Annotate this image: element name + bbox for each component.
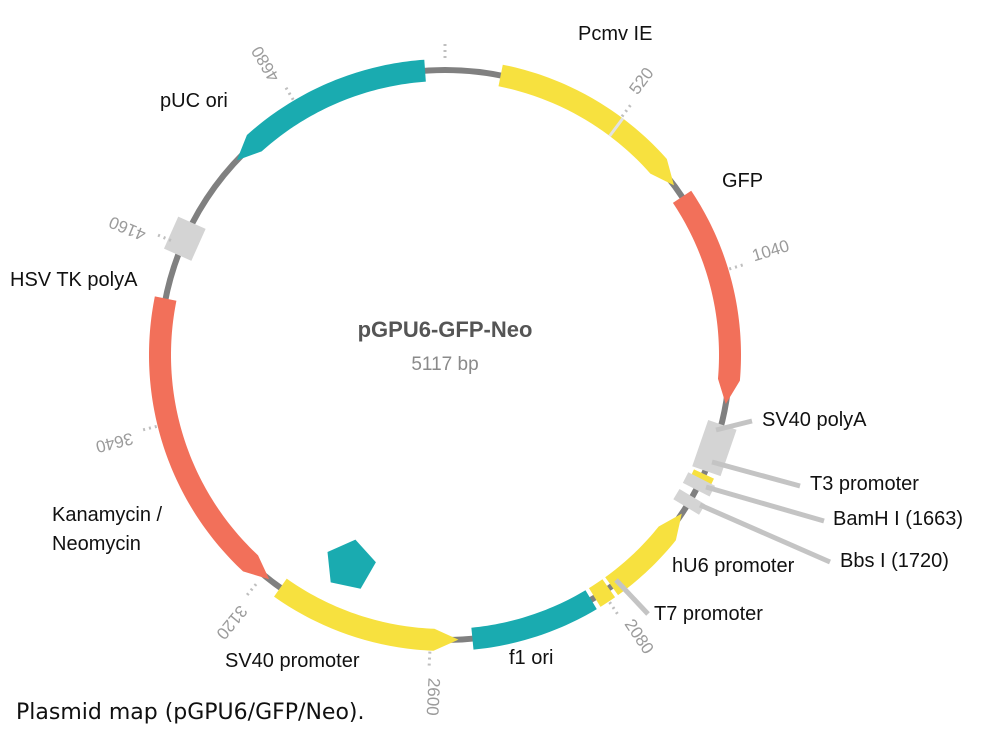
- tick-label: 2600: [423, 677, 444, 716]
- feature-gfp: [673, 191, 741, 404]
- plasmid-map-figure: 5201040208026003120364041604680 Pcmv IEG…: [0, 0, 982, 744]
- label-leader-line: [712, 462, 800, 486]
- tick-label: 520: [625, 64, 657, 98]
- feature-label: pUC ori: [160, 90, 228, 112]
- tick-mark: [610, 602, 620, 617]
- tick-mark: [622, 102, 633, 116]
- tick-label: 4680: [248, 43, 284, 85]
- tick-mark: [245, 584, 256, 598]
- feature-label: BamH I (1663): [833, 508, 963, 530]
- center-title-group: pGPU6-GFP-Neo 5117 bp: [358, 317, 533, 375]
- feature-label: f1 ori: [509, 647, 553, 669]
- tick-mark: [429, 652, 430, 670]
- feature-label: SV40 polyA: [762, 409, 867, 431]
- feature-label: SV40 promoter: [225, 650, 360, 672]
- tick-mark: [729, 264, 746, 269]
- feature-label: Bbs I (1720): [840, 550, 949, 572]
- figure-caption: Plasmid map (pGPU6/GFP/Neo).: [16, 700, 364, 725]
- page-title: pGPU6-GFP-Neo: [358, 317, 533, 342]
- feature-bbs-i-1720: [676, 494, 702, 509]
- feature-sv40-promoter: [274, 579, 458, 651]
- feature-kanamycin-neomycin: [149, 296, 269, 579]
- feature-label: GFP: [722, 170, 763, 192]
- plasmid-map-canvas: 5201040208026003120364041604680 Pcmv IEG…: [0, 0, 982, 744]
- feature-label: T3 promoter: [810, 473, 919, 495]
- feature-marker-pentagon: [328, 540, 376, 589]
- feature-label: Pcmv IE: [578, 23, 652, 45]
- label-leader-line: [700, 505, 830, 562]
- feature-label: hU6 promoter: [672, 555, 795, 577]
- tick-label: 2080: [621, 616, 658, 658]
- feature-label: T7 promoter: [654, 603, 763, 625]
- tick-mark: [284, 84, 293, 99]
- feature-f1-ori: [471, 590, 596, 649]
- feature-label: Kanamycin /: [52, 504, 162, 526]
- tick-label: 4160: [106, 212, 148, 244]
- plasmid-size-label: 5117 bp: [411, 354, 478, 375]
- tick-label: 1040: [750, 236, 792, 265]
- feature-label: HSV TK polyA: [10, 269, 138, 291]
- tick-label: 3640: [94, 429, 135, 457]
- feature-label: Neomycin: [52, 533, 141, 555]
- label-leader-line: [616, 580, 648, 614]
- tick-mark: [139, 426, 156, 430]
- tick-label: 3120: [212, 602, 251, 643]
